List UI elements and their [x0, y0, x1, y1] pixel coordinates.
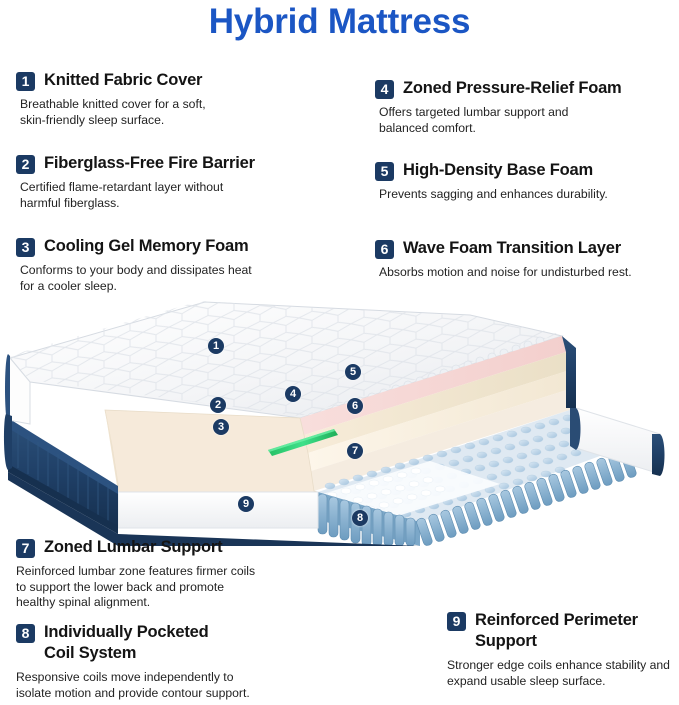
feature-title-1: Knitted Fabric Cover [44, 70, 202, 91]
feature-number-badge-2: 2 [16, 155, 35, 174]
feature-item-7: 7 Zoned Lumbar Support Reinforced lumbar… [16, 537, 346, 611]
feature-number-badge-7: 7 [16, 539, 35, 558]
callout-marker-4: 4 [285, 386, 301, 402]
callout-marker-3: 3 [213, 419, 229, 435]
feature-title-9: Reinforced Perimeter Support [475, 610, 638, 652]
feature-number-badge-5: 5 [375, 162, 394, 181]
feature-desc-9: Stronger edge coils enhance stability an… [447, 658, 677, 689]
memory-foam-wedge [105, 410, 318, 496]
feature-desc-5: Prevents sagging and enhances durability… [379, 187, 675, 203]
feature-item-6: 6 Wave Foam Transition Layer Absorbs mot… [375, 238, 675, 281]
feature-number-badge-6: 6 [375, 240, 394, 259]
feature-title-8: Individually Pocketed Coil System [44, 622, 209, 664]
callout-marker-1: 1 [208, 338, 224, 354]
callout-marker-2: 2 [210, 397, 226, 413]
feature-desc-2: Certified flame-retardant layer without … [20, 180, 346, 211]
feature-heading: 3 Cooling Gel Memory Foam [16, 236, 346, 257]
feature-item-5: 5 High-Density Base Foam Prevents saggin… [375, 160, 675, 203]
feature-item-4: 4 Zoned Pressure-Relief Foam Offers targ… [375, 78, 675, 136]
callout-marker-5: 5 [345, 364, 361, 380]
feature-desc-7: Reinforced lumbar zone features firmer c… [16, 564, 346, 611]
feature-heading: 7 Zoned Lumbar Support [16, 537, 346, 558]
feature-item-3: 3 Cooling Gel Memory Foam Conforms to yo… [16, 236, 346, 294]
feature-heading: 6 Wave Foam Transition Layer [375, 238, 675, 259]
feature-title-4: Zoned Pressure-Relief Foam [403, 78, 622, 99]
feature-title-3: Cooling Gel Memory Foam [44, 236, 248, 257]
feature-item-8: 8 Individually Pocketed Coil System Resp… [16, 622, 346, 701]
feature-number-badge-8: 8 [16, 624, 35, 643]
feature-heading: 8 Individually Pocketed Coil System [16, 622, 346, 664]
feature-heading: 9 Reinforced Perimeter Support [447, 610, 677, 652]
callout-marker-9: 9 [238, 496, 254, 512]
feature-desc-3: Conforms to your body and dissipates hea… [20, 263, 346, 294]
feature-desc-6: Absorbs motion and noise for undisturbed… [379, 265, 675, 281]
feature-title-7: Zoned Lumbar Support [44, 537, 222, 558]
feature-desc-4: Offers targeted lumbar support and balan… [379, 105, 675, 136]
feature-number-badge-9: 9 [447, 612, 466, 631]
feature-heading: 2 Fiberglass-Free Fire Barrier [16, 153, 346, 174]
feature-title-2: Fiberglass-Free Fire Barrier [44, 153, 255, 174]
feature-heading: 1 Knitted Fabric Cover [16, 70, 336, 91]
page-title: Hybrid Mattress [0, 2, 679, 42]
feature-title-5: High-Density Base Foam [403, 160, 593, 181]
feature-heading: 4 Zoned Pressure-Relief Foam [375, 78, 675, 99]
feature-number-badge-3: 3 [16, 238, 35, 257]
feature-number-badge-1: 1 [16, 72, 35, 91]
feature-heading: 5 High-Density Base Foam [375, 160, 675, 181]
feature-desc-1: Breathable knitted cover for a soft, ski… [20, 97, 336, 128]
callout-marker-6: 6 [347, 398, 363, 414]
feature-number-badge-4: 4 [375, 80, 394, 99]
mattress-cutaway-illustration [0, 296, 679, 546]
callout-marker-7: 7 [347, 443, 363, 459]
feature-item-2: 2 Fiberglass-Free Fire Barrier Certified… [16, 153, 346, 211]
feature-title-6: Wave Foam Transition Layer [403, 238, 621, 259]
feature-desc-8: Responsive coils move independently to i… [16, 670, 346, 701]
feature-item-9: 9 Reinforced Perimeter Support Stronger … [447, 610, 677, 689]
infographic-page: Hybrid Mattress 1 Knitted Fabric Cover B… [0, 0, 679, 705]
callout-marker-8: 8 [352, 510, 368, 526]
feature-item-1: 1 Knitted Fabric Cover Breathable knitte… [16, 70, 336, 128]
